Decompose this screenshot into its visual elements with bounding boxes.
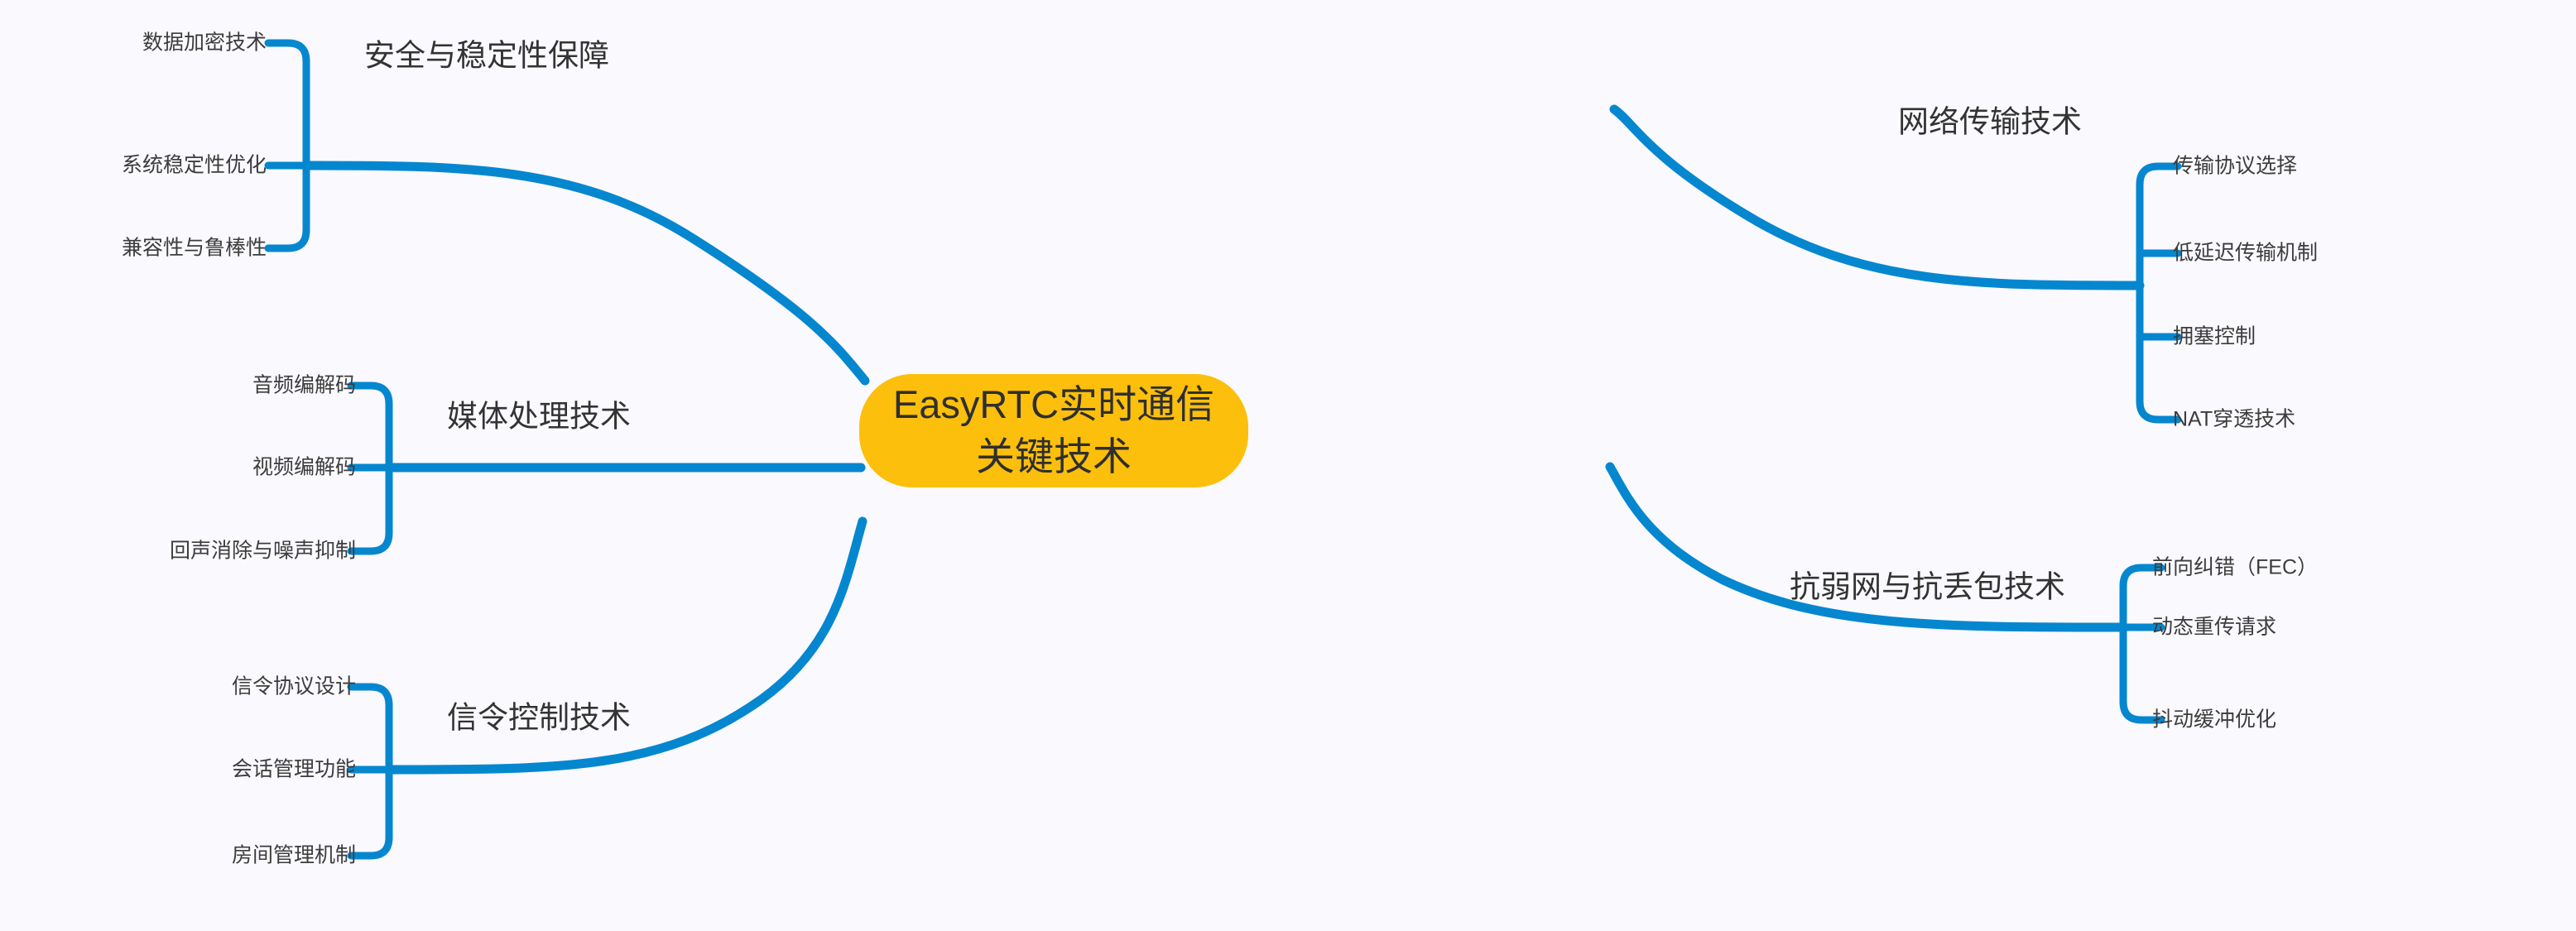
leaf-label-media-1[interactable]: 视频编解码	[252, 456, 356, 480]
leaf-label-weaknet-1[interactable]: 动态重传请求	[2152, 616, 2276, 640]
branch-spine-media	[351, 386, 389, 551]
leaf-label-security-1[interactable]: 系统稳定性优化	[122, 154, 267, 178]
branch-spine-signaling	[351, 687, 389, 856]
leaf-label-security-2[interactable]: 兼容性与鲁棒性	[122, 237, 267, 261]
leaf-label-weaknet-2[interactable]: 抖动缓冲优化	[2152, 708, 2276, 732]
leaf-label-signaling-2[interactable]: 房间管理机制	[232, 844, 356, 868]
branch-trunk-security	[306, 166, 865, 381]
leaf-label-media-0[interactable]: 音频编解码	[252, 374, 356, 398]
mindmap-canvas: EasyRTC实时通信关键技术 安全与稳定性保障数据加密技术系统稳定性优化兼容性…	[0, 0, 2576, 931]
branch-label-network[interactable]: 网络传输技术	[1898, 105, 2082, 141]
branch-spine-network	[2140, 166, 2178, 420]
root-node[interactable]: EasyRTC实时通信关键技术	[859, 374, 1248, 487]
leaf-label-network-0[interactable]: 传输协议选择	[2173, 155, 2297, 179]
branch-label-security[interactable]: 安全与稳定性保障	[364, 39, 609, 74]
branch-spine-weaknet	[2123, 568, 2161, 720]
branch-label-weaknet[interactable]: 抗弱网与抗丢包技术	[1790, 570, 2065, 606]
connector-layer	[0, 0, 2576, 931]
leaf-label-weaknet-0[interactable]: 前向纠错（FEC）	[2152, 556, 2318, 580]
leaf-label-network-2[interactable]: 拥塞控制	[2173, 325, 2256, 349]
leaf-label-signaling-0[interactable]: 信令协议设计	[232, 675, 356, 699]
leaf-label-signaling-1[interactable]: 会话管理功能	[232, 758, 356, 782]
branch-spine-security	[268, 43, 306, 248]
leaf-label-media-2[interactable]: 回声消除与噪声抑制	[170, 540, 356, 564]
leaf-label-security-0[interactable]: 数据加密技术	[142, 31, 267, 55]
branch-label-signaling[interactable]: 信令控制技术	[447, 701, 631, 737]
leaf-label-network-3[interactable]: NAT穿透技术	[2173, 408, 2295, 432]
root-node-label: EasyRTC实时通信关键技术	[887, 379, 1220, 482]
leaf-label-network-1[interactable]: 低延迟传输机制	[2173, 242, 2318, 266]
branch-label-media[interactable]: 媒体处理技术	[447, 400, 631, 435]
